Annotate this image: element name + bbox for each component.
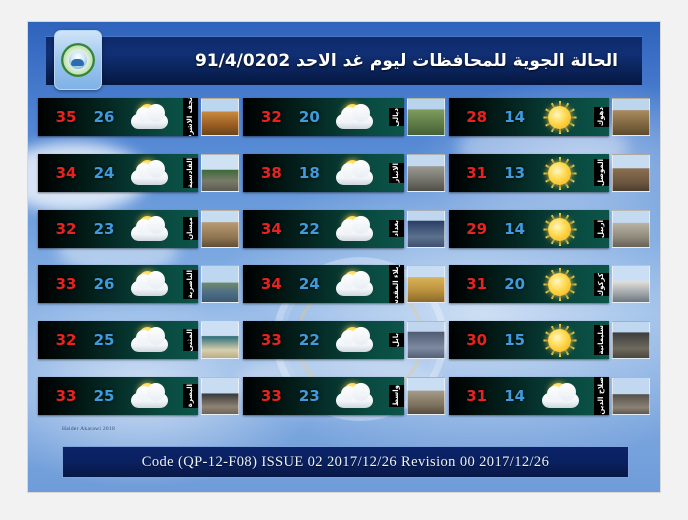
city-name-label: الناصرية bbox=[183, 270, 198, 299]
cloud-shape bbox=[542, 393, 579, 408]
forecast-row[interactable]: 3422بغداد bbox=[243, 210, 444, 248]
poster-header: الحالة الجوية للمحافظات ليوم غد الاحد 20… bbox=[46, 36, 642, 85]
cloud-shape bbox=[131, 226, 168, 241]
partly-cloudy-icon bbox=[537, 381, 583, 411]
city-name-label: كركوك bbox=[594, 273, 609, 296]
min-temperature: 20 bbox=[497, 275, 533, 293]
clear-sun-icon bbox=[537, 214, 583, 244]
weather-icon-slot bbox=[533, 325, 594, 355]
city-name-label: سليمانية bbox=[594, 325, 609, 355]
forecast-card[interactable]: 3220ديالى bbox=[243, 98, 403, 136]
karbala-shrine-photo bbox=[407, 265, 445, 303]
city-name-strip: الناصرية bbox=[183, 270, 198, 299]
babil-towers-photo bbox=[407, 321, 445, 359]
forecast-card[interactable]: 3120كركوك bbox=[449, 265, 609, 303]
clear-sun-icon bbox=[537, 158, 583, 188]
city-name-label: القادسية bbox=[183, 158, 198, 188]
city-name-strip: بابل bbox=[389, 333, 404, 347]
city-name-strip: البصرة bbox=[183, 384, 198, 407]
forecast-row[interactable]: 3326الناصرية bbox=[38, 265, 239, 303]
forecast-card[interactable]: 3322بابل bbox=[243, 321, 403, 359]
city-name-strip: الموصل bbox=[594, 159, 609, 186]
city-name-label: ميسان bbox=[183, 217, 198, 240]
min-temperature: 22 bbox=[291, 331, 327, 349]
weather-icon-slot bbox=[533, 214, 594, 244]
partly-cloudy-icon bbox=[331, 214, 377, 244]
weather-icon-slot bbox=[327, 158, 388, 188]
salahaddin-statue-photo bbox=[612, 377, 650, 415]
partly-cloudy-icon bbox=[126, 158, 172, 188]
max-temperature: 34 bbox=[46, 164, 86, 182]
logo-cloud-icon bbox=[69, 51, 87, 69]
city-name-label: البصرة bbox=[183, 384, 198, 407]
forecast-card[interactable]: 3424كربلاء المقدسة bbox=[243, 265, 403, 303]
city-name-label: النجف الاشرف bbox=[183, 98, 198, 136]
max-temperature: 31 bbox=[457, 164, 497, 182]
max-temperature: 31 bbox=[457, 387, 497, 405]
anbar-dam-photo bbox=[407, 154, 445, 192]
najaf-shrine-photo bbox=[201, 98, 239, 136]
partly-cloudy-icon bbox=[126, 325, 172, 355]
forecast-card[interactable]: 3225المثنى bbox=[38, 321, 198, 359]
min-temperature: 23 bbox=[86, 220, 122, 238]
forecast-row[interactable]: 3225المثنى bbox=[38, 321, 239, 359]
max-temperature: 30 bbox=[457, 331, 497, 349]
city-name-label: دهوك bbox=[594, 107, 609, 126]
city-name-label: ديالى bbox=[389, 108, 404, 127]
forecast-row[interactable]: 3120كركوك bbox=[449, 265, 650, 303]
forecast-row[interactable]: 3424كربلاء المقدسة bbox=[243, 265, 444, 303]
weather-icon-slot bbox=[533, 102, 594, 132]
forecast-row[interactable]: 3526النجف الاشرف bbox=[38, 98, 239, 136]
weather-icon-slot bbox=[327, 214, 388, 244]
cloud-shape bbox=[131, 170, 168, 185]
partly-cloudy-icon bbox=[126, 102, 172, 132]
city-name-strip: واسط bbox=[389, 385, 404, 406]
sulaymaniyah-monument-photo bbox=[612, 321, 650, 359]
forecast-card[interactable]: 3818الانبار bbox=[243, 154, 403, 192]
weather-icon-slot bbox=[122, 325, 183, 355]
min-temperature: 15 bbox=[497, 331, 533, 349]
weather-icon-slot bbox=[327, 269, 388, 299]
cloud-shape bbox=[336, 393, 373, 408]
qadisiyah-monument-photo bbox=[201, 154, 239, 192]
forecast-card[interactable]: 3326الناصرية bbox=[38, 265, 198, 303]
max-temperature: 35 bbox=[46, 108, 86, 126]
city-name-strip: النجف الاشرف bbox=[183, 98, 198, 136]
city-name-label: اربيل bbox=[594, 220, 609, 238]
forecast-row[interactable]: 3220ديالى bbox=[243, 98, 444, 136]
cloud-shape bbox=[336, 226, 373, 241]
max-temperature: 32 bbox=[46, 331, 86, 349]
weather-icon-slot bbox=[122, 102, 183, 132]
forecast-row[interactable]: 3223ميسان bbox=[38, 210, 239, 248]
erbil-citadel-photo bbox=[612, 210, 650, 248]
weather-icon-slot bbox=[122, 214, 183, 244]
min-temperature: 14 bbox=[497, 387, 533, 405]
cloud-shape bbox=[336, 170, 373, 185]
max-temperature: 33 bbox=[251, 331, 291, 349]
weather-poster: الحالة الجوية للمحافظات ليوم غد الاحد 20… bbox=[28, 22, 660, 492]
forecast-row[interactable]: 3113الموصل bbox=[449, 154, 650, 192]
city-name-strip: صلاح الدين bbox=[594, 377, 609, 415]
mosul-minaret-photo bbox=[612, 154, 650, 192]
min-temperature: 25 bbox=[86, 387, 122, 405]
cloud-shape bbox=[131, 337, 168, 352]
city-name-strip: كركوك bbox=[594, 273, 609, 296]
min-temperature: 20 bbox=[291, 108, 327, 126]
forecast-row[interactable]: 3015سليمانية bbox=[449, 321, 650, 359]
forecast-row[interactable]: 3325البصرة bbox=[38, 377, 239, 415]
max-temperature: 33 bbox=[46, 275, 86, 293]
min-temperature: 24 bbox=[291, 275, 327, 293]
baghdad-building-photo bbox=[407, 210, 445, 248]
forecast-row[interactable]: 3424القادسية bbox=[38, 154, 239, 192]
column-right: 3526النجف الاشرف3424القادسية3223ميسان332… bbox=[38, 98, 239, 418]
document-control-footer: Code (QP-12-F08) ISSUE 02 2017/12/26 Rev… bbox=[62, 446, 629, 478]
forecast-row[interactable]: 2914اربيل bbox=[449, 210, 650, 248]
city-name-strip: كربلاء المقدسة bbox=[389, 265, 404, 303]
max-temperature: 31 bbox=[457, 275, 497, 293]
city-name-strip: دهوك bbox=[594, 107, 609, 126]
forecast-card[interactable]: 3113الموصل bbox=[449, 154, 609, 192]
forecast-row[interactable]: 2814دهوك bbox=[449, 98, 650, 136]
min-temperature: 14 bbox=[497, 220, 533, 238]
forecast-card[interactable]: 2914اربيل bbox=[449, 210, 609, 248]
min-temperature: 14 bbox=[497, 108, 533, 126]
city-name-strip: ميسان bbox=[183, 217, 198, 240]
city-name-label: الموصل bbox=[594, 159, 609, 186]
forecast-card[interactable]: 3424القادسية bbox=[38, 154, 198, 192]
city-name-label: واسط bbox=[389, 385, 404, 406]
city-name-label: صلاح الدين bbox=[594, 377, 609, 415]
weather-icon-slot bbox=[122, 158, 183, 188]
forecast-card[interactable]: 3422بغداد bbox=[243, 210, 403, 248]
min-temperature: 13 bbox=[497, 164, 533, 182]
forecast-card[interactable]: 2814دهوك bbox=[449, 98, 609, 136]
max-temperature: 34 bbox=[251, 275, 291, 293]
column-left: 2814دهوك3113الموصل2914اربيل3120كركوك3015… bbox=[449, 98, 650, 418]
forecast-card[interactable]: 3526النجف الاشرف bbox=[38, 98, 198, 136]
max-temperature: 32 bbox=[46, 220, 86, 238]
duhok-bridge-photo bbox=[612, 98, 650, 136]
partly-cloudy-icon bbox=[126, 269, 172, 299]
forecast-grid: 3526النجف الاشرف3424القادسية3223ميسان332… bbox=[38, 98, 650, 418]
min-temperature: 22 bbox=[291, 220, 327, 238]
city-name-strip: القادسية bbox=[183, 158, 198, 188]
city-name-strip: سليمانية bbox=[594, 325, 609, 355]
max-temperature: 34 bbox=[251, 220, 291, 238]
iraq-meteorology-logo-icon bbox=[54, 30, 102, 90]
forecast-card[interactable]: 3223ميسان bbox=[38, 210, 198, 248]
city-name-label: كربلاء المقدسة bbox=[389, 265, 404, 303]
weather-icon-slot bbox=[122, 269, 183, 299]
forecast-card[interactable]: 3015سليمانية bbox=[449, 321, 609, 359]
partly-cloudy-icon bbox=[331, 325, 377, 355]
city-name-strip: الانبار bbox=[389, 163, 404, 183]
clear-sun-icon bbox=[537, 325, 583, 355]
city-name-label: المثنى bbox=[183, 329, 198, 352]
cloud-shape bbox=[131, 114, 168, 129]
city-name-strip: بغداد bbox=[389, 220, 404, 237]
weather-icon-slot bbox=[327, 325, 388, 355]
max-temperature: 29 bbox=[457, 220, 497, 238]
max-temperature: 28 bbox=[457, 108, 497, 126]
clear-sun-icon bbox=[537, 102, 583, 132]
diyala-orchard-photo bbox=[407, 98, 445, 136]
basra-statue-photo bbox=[201, 377, 239, 415]
forecast-row[interactable]: 3114صلاح الدين bbox=[449, 377, 650, 415]
partly-cloudy-icon bbox=[331, 102, 377, 132]
weather-icon-slot bbox=[533, 269, 594, 299]
column-middle: 3220ديالى3818الانبار3422بغداد3424كربلاء … bbox=[243, 98, 444, 418]
clear-sun-icon bbox=[537, 269, 583, 299]
kirkuk-castle-photo bbox=[612, 265, 650, 303]
min-temperature: 25 bbox=[86, 331, 122, 349]
weather-icon-slot bbox=[533, 158, 594, 188]
min-temperature: 24 bbox=[86, 164, 122, 182]
maysan-tower-photo bbox=[201, 210, 239, 248]
max-temperature: 32 bbox=[251, 108, 291, 126]
city-name-strip: المثنى bbox=[183, 329, 198, 352]
city-name-label: الانبار bbox=[389, 163, 404, 183]
partly-cloudy-icon bbox=[126, 381, 172, 411]
min-temperature: 26 bbox=[86, 275, 122, 293]
city-name-label: بابل bbox=[389, 333, 404, 347]
weather-icon-slot bbox=[122, 381, 183, 411]
city-name-strip: ديالى bbox=[389, 108, 404, 127]
max-temperature: 33 bbox=[46, 387, 86, 405]
cloud-shape bbox=[131, 281, 168, 296]
cloud-shape bbox=[131, 393, 168, 408]
city-name-strip: اربيل bbox=[594, 220, 609, 238]
min-temperature: 23 bbox=[291, 387, 327, 405]
max-temperature: 33 bbox=[251, 387, 291, 405]
partly-cloudy-icon bbox=[126, 214, 172, 244]
cloud-shape bbox=[336, 114, 373, 129]
author-signature: Haider Akarawi 2018 bbox=[62, 426, 115, 432]
forecast-row[interactable]: 3323واسط bbox=[243, 377, 444, 415]
weather-icon-slot bbox=[327, 381, 388, 411]
min-temperature: 18 bbox=[291, 164, 327, 182]
forecast-card[interactable]: 3114صلاح الدين bbox=[449, 377, 609, 415]
weather-icon-slot bbox=[533, 381, 594, 411]
forecast-row[interactable]: 3818الانبار bbox=[243, 154, 444, 192]
forecast-row[interactable]: 3322بابل bbox=[243, 321, 444, 359]
cloud-shape bbox=[336, 337, 373, 352]
forecast-card[interactable]: 3323واسط bbox=[243, 377, 403, 415]
logo-ring bbox=[61, 43, 95, 77]
page-title: الحالة الجوية للمحافظات ليوم غد الاحد 20… bbox=[195, 51, 618, 71]
forecast-card[interactable]: 3325البصرة bbox=[38, 377, 198, 415]
nasiriyah-river-photo bbox=[201, 265, 239, 303]
min-temperature: 26 bbox=[86, 108, 122, 126]
partly-cloudy-icon bbox=[331, 158, 377, 188]
weather-icon-slot bbox=[327, 102, 388, 132]
footer-text: Code (QP-12-F08) ISSUE 02 2017/12/26 Rev… bbox=[142, 454, 549, 471]
partly-cloudy-icon bbox=[331, 381, 377, 411]
muthanna-fountain-photo bbox=[201, 321, 239, 359]
max-temperature: 38 bbox=[251, 164, 291, 182]
cloud-shape bbox=[336, 281, 373, 296]
partly-cloudy-icon bbox=[331, 269, 377, 299]
wasit-arch-photo bbox=[407, 377, 445, 415]
city-name-label: بغداد bbox=[389, 220, 404, 237]
